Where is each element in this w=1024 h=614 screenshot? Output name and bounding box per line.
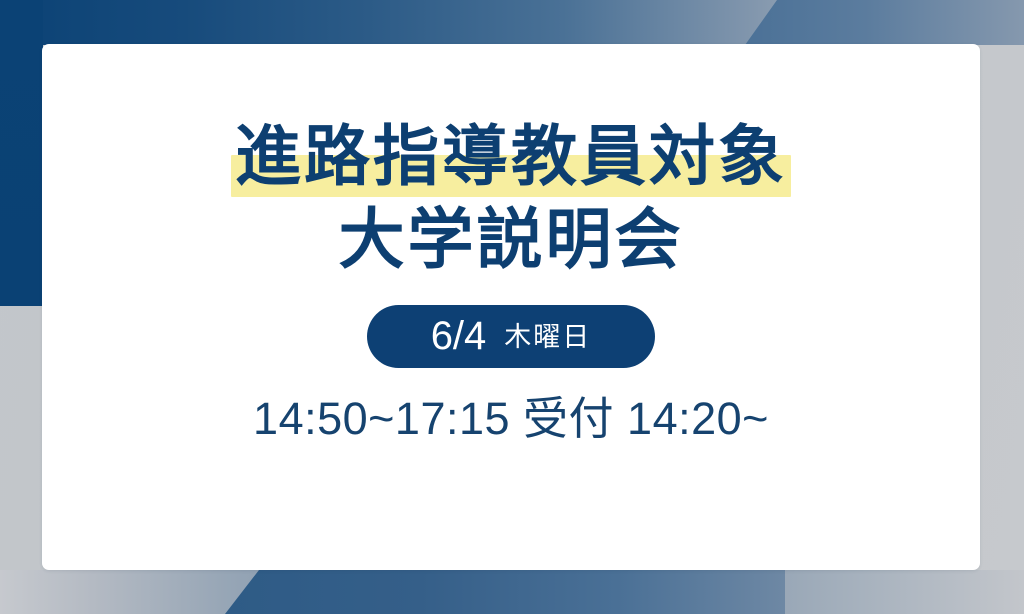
background-left-navy-block [0, 0, 43, 306]
date-badge-date: 6/4 [431, 316, 487, 356]
headline-line-2: 大学説明会 [42, 205, 980, 274]
background-top-diagonal-wedge [745, 0, 1024, 45]
poster-canvas: 進路指導教員対象 大学説明会 6/4 木曜日 14:50~17:15 受付 14… [0, 0, 1024, 614]
background-bottom-diagonal-wedge [225, 570, 785, 614]
date-badge-day-of-week: 木曜日 [504, 321, 591, 351]
headline-line1-wrapper: 進路指導教員対象 [235, 122, 787, 191]
headline-line-1: 進路指導教員対象 [235, 118, 787, 195]
date-badge-row: 6/4 木曜日 [42, 305, 980, 368]
content-card: 進路指導教員対象 大学説明会 6/4 木曜日 14:50~17:15 受付 14… [42, 44, 980, 570]
date-badge: 6/4 木曜日 [367, 305, 655, 368]
headline-block: 進路指導教員対象 大学説明会 [42, 122, 980, 275]
schedule-row: 14:50~17:15 受付 14:20~ [42, 394, 980, 444]
schedule-text: 14:50~17:15 受付 14:20~ [253, 393, 769, 444]
